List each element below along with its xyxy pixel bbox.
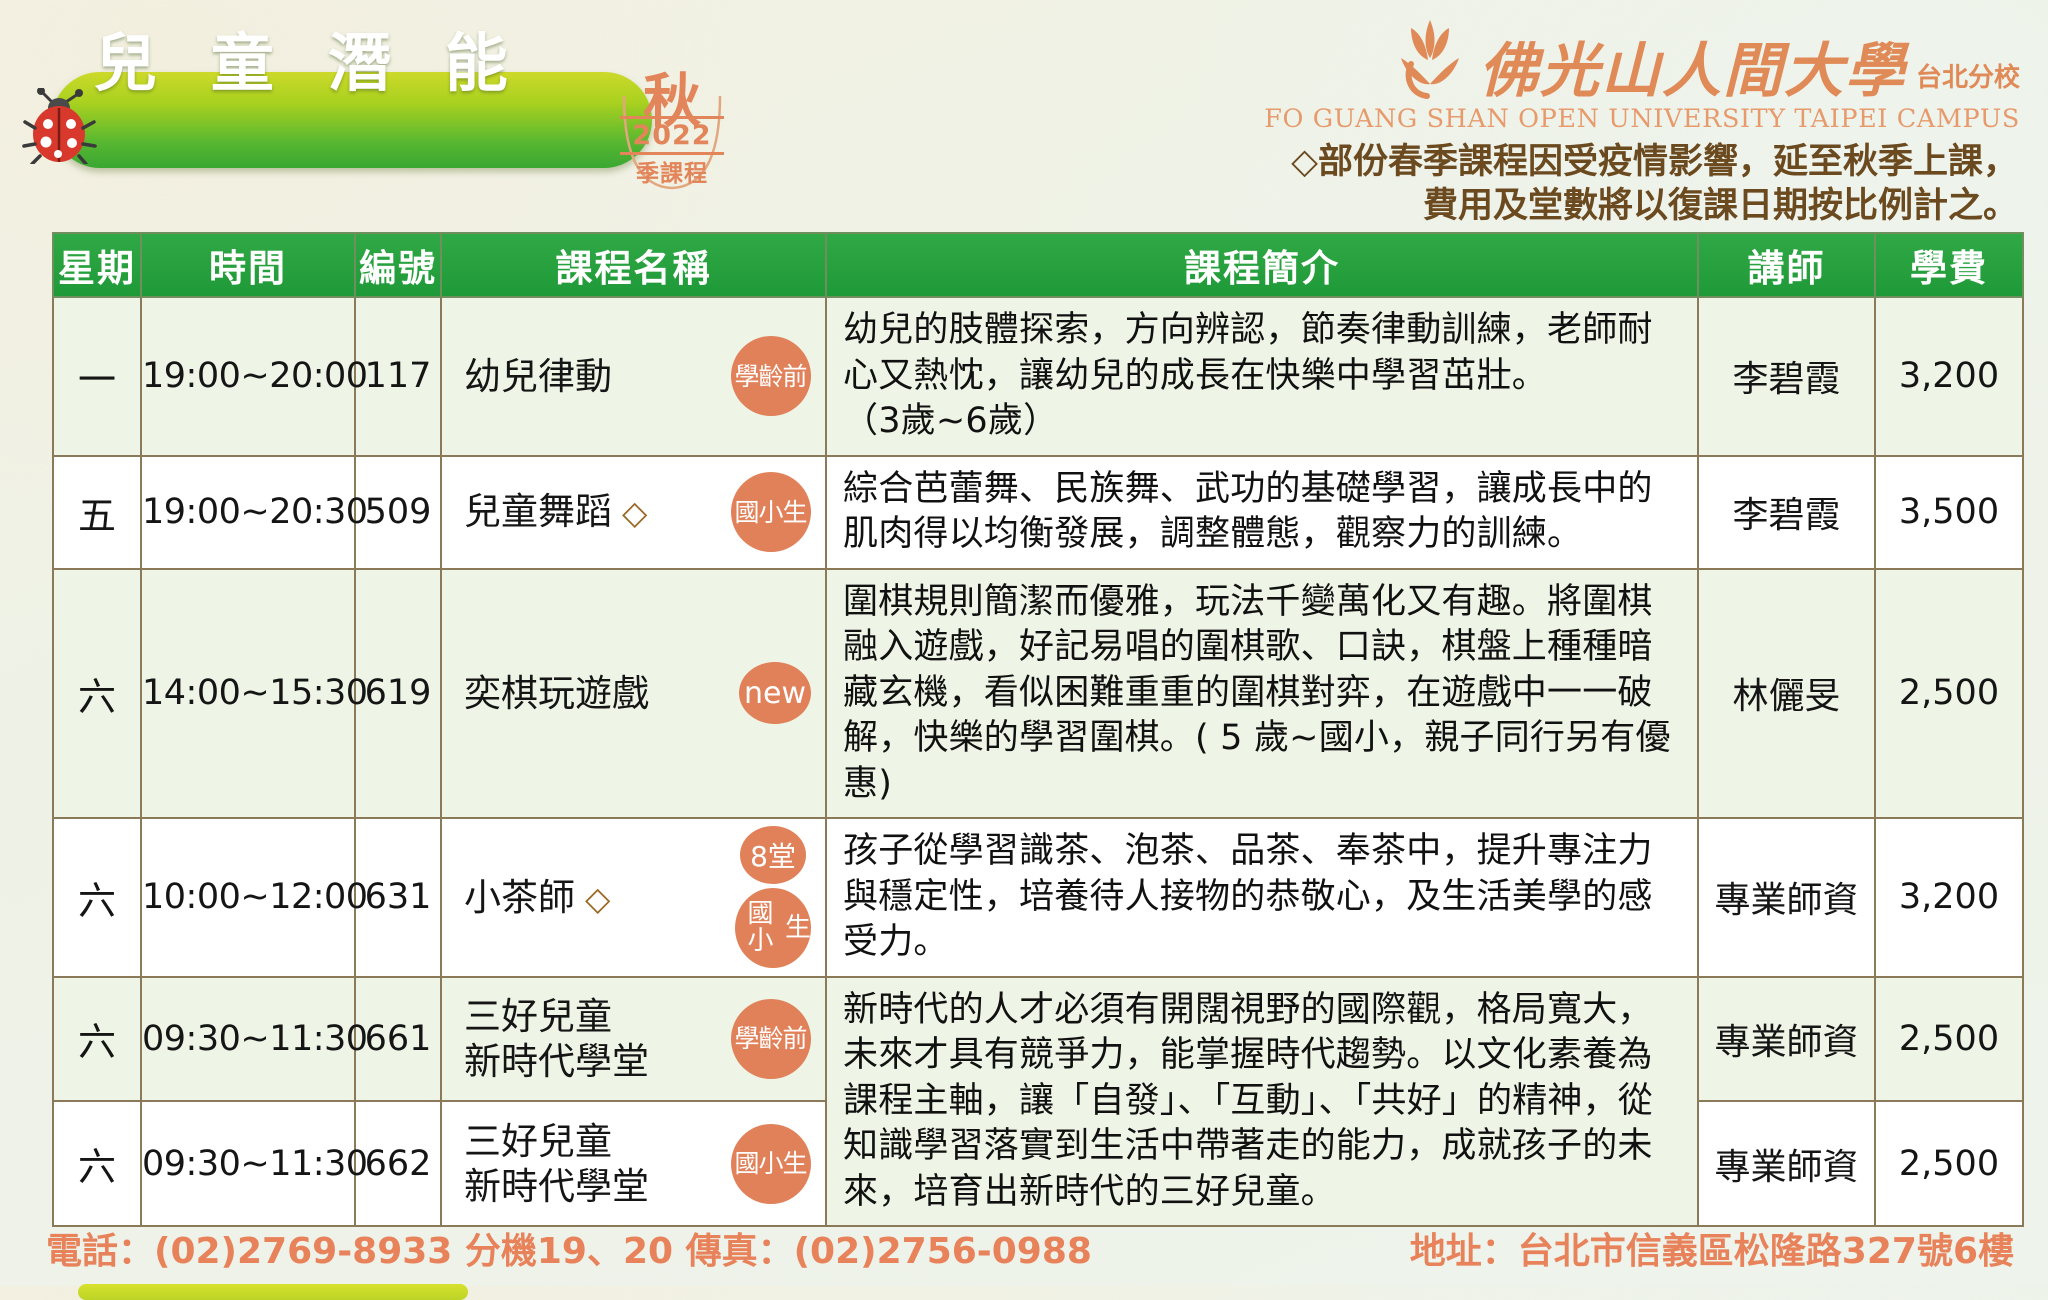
col-weekday: 星期 bbox=[53, 233, 141, 297]
course-badge: 國小生 bbox=[735, 888, 811, 968]
col-fee: 學費 bbox=[1875, 233, 2023, 297]
notice-line-2: 費用及堂數將以復課日期按比例計之。 bbox=[838, 184, 2018, 228]
course-badge: new bbox=[739, 662, 811, 724]
ladybug-icon bbox=[22, 88, 98, 164]
cell-code: 661 bbox=[355, 977, 441, 1102]
brand-logo: 佛光山人間大學 台北分校 FO GUANG SHAN OPEN UNIVERSI… bbox=[1264, 14, 2020, 134]
cell-time: 09:30~11:30 bbox=[141, 1101, 355, 1226]
table-row: 一19:00~20:00117幼兒律動學齡前幼兒的肢體探索，方向辨認，節奏律動訓… bbox=[53, 297, 2023, 456]
cell-teacher: 林儷旻 bbox=[1698, 569, 1875, 819]
cell-description: 幼兒的肢體探索，方向辨認，節奏律動訓練，老師耐心又熱忱，讓幼兒的成長在快樂中學習… bbox=[826, 297, 1698, 456]
col-description: 課程簡介 bbox=[826, 233, 1698, 297]
col-code: 編號 bbox=[355, 233, 441, 297]
course-name-inner: 三好兒童新時代學堂學齡前 bbox=[464, 994, 825, 1084]
cell-code: 619 bbox=[355, 569, 441, 819]
table-row: 六14:00~15:30619奕棋玩遊戲new圍棋規則簡潔而優雅，玩法千變萬化又… bbox=[53, 569, 2023, 819]
cell-time: 09:30~11:30 bbox=[141, 977, 355, 1102]
col-time: 時間 bbox=[141, 233, 355, 297]
cell-weekday: 五 bbox=[53, 456, 141, 569]
brand-name-en: FO GUANG SHAN OPEN UNIVERSITY TAIPEI CAM… bbox=[1264, 104, 2020, 134]
brand-campus: 台北分校 bbox=[1916, 57, 2020, 100]
course-badge: 學齡前 bbox=[731, 336, 811, 416]
cell-description: 孩子從學習識茶、泡茶、品茶、奉茶中，提升專注力與穩定性，培養待人接物的恭敬心，及… bbox=[826, 818, 1698, 977]
badge-group: 國小生 bbox=[731, 472, 811, 552]
season-subtitle: 季課程 bbox=[620, 154, 724, 188]
cell-course-name: 三好兒童新時代學堂國小生 bbox=[441, 1101, 826, 1226]
course-name-text: 兒童舞蹈◇ bbox=[464, 489, 647, 534]
notice-text: ◇部份春季課程因受疫情影響，延至秋季上課， 費用及堂數將以復課日期按比例計之。 bbox=[838, 140, 2018, 228]
season-year: 2022 bbox=[620, 116, 724, 155]
cell-teacher: 專業師資 bbox=[1698, 1101, 1875, 1226]
diamond-icon: ◇ bbox=[622, 493, 647, 532]
footer-contact: 電話：(02)2769-8933 分機19、20 傳真：(02)2756-098… bbox=[46, 1222, 1092, 1274]
brand-name-cn: 佛光山人間大學 bbox=[1479, 41, 1906, 100]
course-name-inner: 奕棋玩遊戲new bbox=[464, 662, 825, 724]
badge-group: 學齡前 bbox=[731, 336, 811, 416]
cell-teacher: 李碧霞 bbox=[1698, 456, 1875, 569]
cell-weekday: 六 bbox=[53, 1101, 141, 1226]
cell-fee: 2,500 bbox=[1875, 569, 2023, 819]
footer: 電話：(02)2769-8933 分機19、20 傳真：(02)2756-098… bbox=[0, 1222, 2048, 1286]
cell-teacher: 專業師資 bbox=[1698, 977, 1875, 1102]
cell-fee: 3,200 bbox=[1875, 818, 2023, 977]
cell-code: 631 bbox=[355, 818, 441, 977]
col-teacher: 講師 bbox=[1698, 233, 1875, 297]
lotus-logo-icon bbox=[1391, 14, 1469, 100]
cell-weekday: 一 bbox=[53, 297, 141, 456]
course-badge: 8堂 bbox=[740, 826, 806, 884]
cell-weekday: 六 bbox=[53, 818, 141, 977]
notice-line-1: ◇部份春季課程因受疫情影響，延至秋季上課， bbox=[838, 140, 2018, 184]
badge-group: 8堂國小生 bbox=[735, 826, 811, 968]
course-table: 星期 時間 編號 課程名稱 課程簡介 講師 學費 一19:00~20:00117… bbox=[52, 232, 2024, 1227]
page-title: 兒 童 潛 能 bbox=[94, 13, 524, 104]
cell-time: 14:00~15:30 bbox=[141, 569, 355, 819]
course-name-text: 幼兒律動 bbox=[464, 354, 612, 399]
cell-description: 圍棋規則簡潔而優雅，玩法千變萬化又有趣。將圍棋融入遊戲，好記易唱的圍棋歌、口訣，… bbox=[826, 569, 1698, 819]
cell-course-name: 幼兒律動學齡前 bbox=[441, 297, 826, 456]
cell-time: 19:00~20:00 bbox=[141, 297, 355, 456]
cell-code: 509 bbox=[355, 456, 441, 569]
cell-teacher: 李碧霞 bbox=[1698, 297, 1875, 456]
cell-course-name: 三好兒童新時代學堂學齡前 bbox=[441, 977, 826, 1102]
diamond-icon: ◇ bbox=[585, 879, 610, 918]
badge-group: 國小生 bbox=[731, 1124, 811, 1204]
cell-teacher: 專業師資 bbox=[1698, 818, 1875, 977]
cell-course-name: 小茶師◇8堂國小生 bbox=[441, 818, 826, 977]
course-name-text: 三好兒童新時代學堂 bbox=[464, 1119, 649, 1209]
badge-group: 學齡前 bbox=[731, 999, 811, 1079]
col-course-name: 課程名稱 bbox=[441, 233, 826, 297]
cell-time: 10:00~12:00 bbox=[141, 818, 355, 977]
table-row: 六10:00~12:00631小茶師◇8堂國小生孩子從學習識茶、泡茶、品茶、奉茶… bbox=[53, 818, 2023, 977]
course-name-text: 小茶師◇ bbox=[464, 875, 610, 920]
cell-code: 662 bbox=[355, 1101, 441, 1226]
cell-description: 新時代的人才必須有開闊視野的國際觀，格局寬大，未來才具有競爭力，能掌握時代趨勢。… bbox=[826, 977, 1698, 1227]
cell-weekday: 六 bbox=[53, 977, 141, 1102]
cell-course-name: 兒童舞蹈◇國小生 bbox=[441, 456, 826, 569]
cell-description: 綜合芭蕾舞、民族舞、武功的基礎學習，讓成長中的肌肉得以均衡發展，調整體態，觀察力… bbox=[826, 456, 1698, 569]
season-badge: 秋 2022 季課程 bbox=[620, 60, 724, 190]
cell-code: 117 bbox=[355, 297, 441, 456]
cell-time: 19:00~20:30 bbox=[141, 456, 355, 569]
cell-fee: 2,500 bbox=[1875, 1101, 2023, 1226]
poster-page: 兒 童 潛 能 秋 2022 季課程 佛光山人間大學 台北分校 FO GUANG… bbox=[0, 0, 2048, 1286]
badge-group: new bbox=[739, 662, 811, 724]
course-name-text: 三好兒童新時代學堂 bbox=[464, 994, 649, 1084]
table-header-row: 星期 時間 編號 課程名稱 課程簡介 講師 學費 bbox=[53, 233, 2023, 297]
course-name-inner: 三好兒童新時代學堂國小生 bbox=[464, 1119, 825, 1209]
course-name-inner: 小茶師◇8堂國小生 bbox=[464, 826, 825, 968]
course-name-inner: 幼兒律動學齡前 bbox=[464, 336, 825, 416]
table-row: 五19:00~20:30509兒童舞蹈◇國小生綜合芭蕾舞、民族舞、武功的基礎學習… bbox=[53, 456, 2023, 569]
course-badge: 國小生 bbox=[731, 1124, 811, 1204]
course-name-inner: 兒童舞蹈◇國小生 bbox=[464, 472, 825, 552]
cell-fee: 3,200 bbox=[1875, 297, 2023, 456]
table-body: 一19:00~20:00117幼兒律動學齡前幼兒的肢體探索，方向辨認，節奏律動訓… bbox=[53, 297, 2023, 1226]
course-table-wrap: 星期 時間 編號 課程名稱 課程簡介 講師 學費 一19:00~20:00117… bbox=[52, 232, 2022, 1227]
footer-address: 地址：台北市信義區松隆路327號6樓 bbox=[1410, 1222, 2014, 1274]
course-name-text: 奕棋玩遊戲 bbox=[464, 671, 649, 716]
cell-fee: 2,500 bbox=[1875, 977, 2023, 1102]
footer-accent-bar bbox=[78, 1284, 468, 1300]
table-row: 六09:30~11:30661三好兒童新時代學堂學齡前新時代的人才必須有開闊視野… bbox=[53, 977, 2023, 1102]
course-badge: 國小生 bbox=[731, 472, 811, 552]
cell-fee: 3,500 bbox=[1875, 456, 2023, 569]
cell-weekday: 六 bbox=[53, 569, 141, 819]
cell-course-name: 奕棋玩遊戲new bbox=[441, 569, 826, 819]
course-badge: 學齡前 bbox=[731, 999, 811, 1079]
